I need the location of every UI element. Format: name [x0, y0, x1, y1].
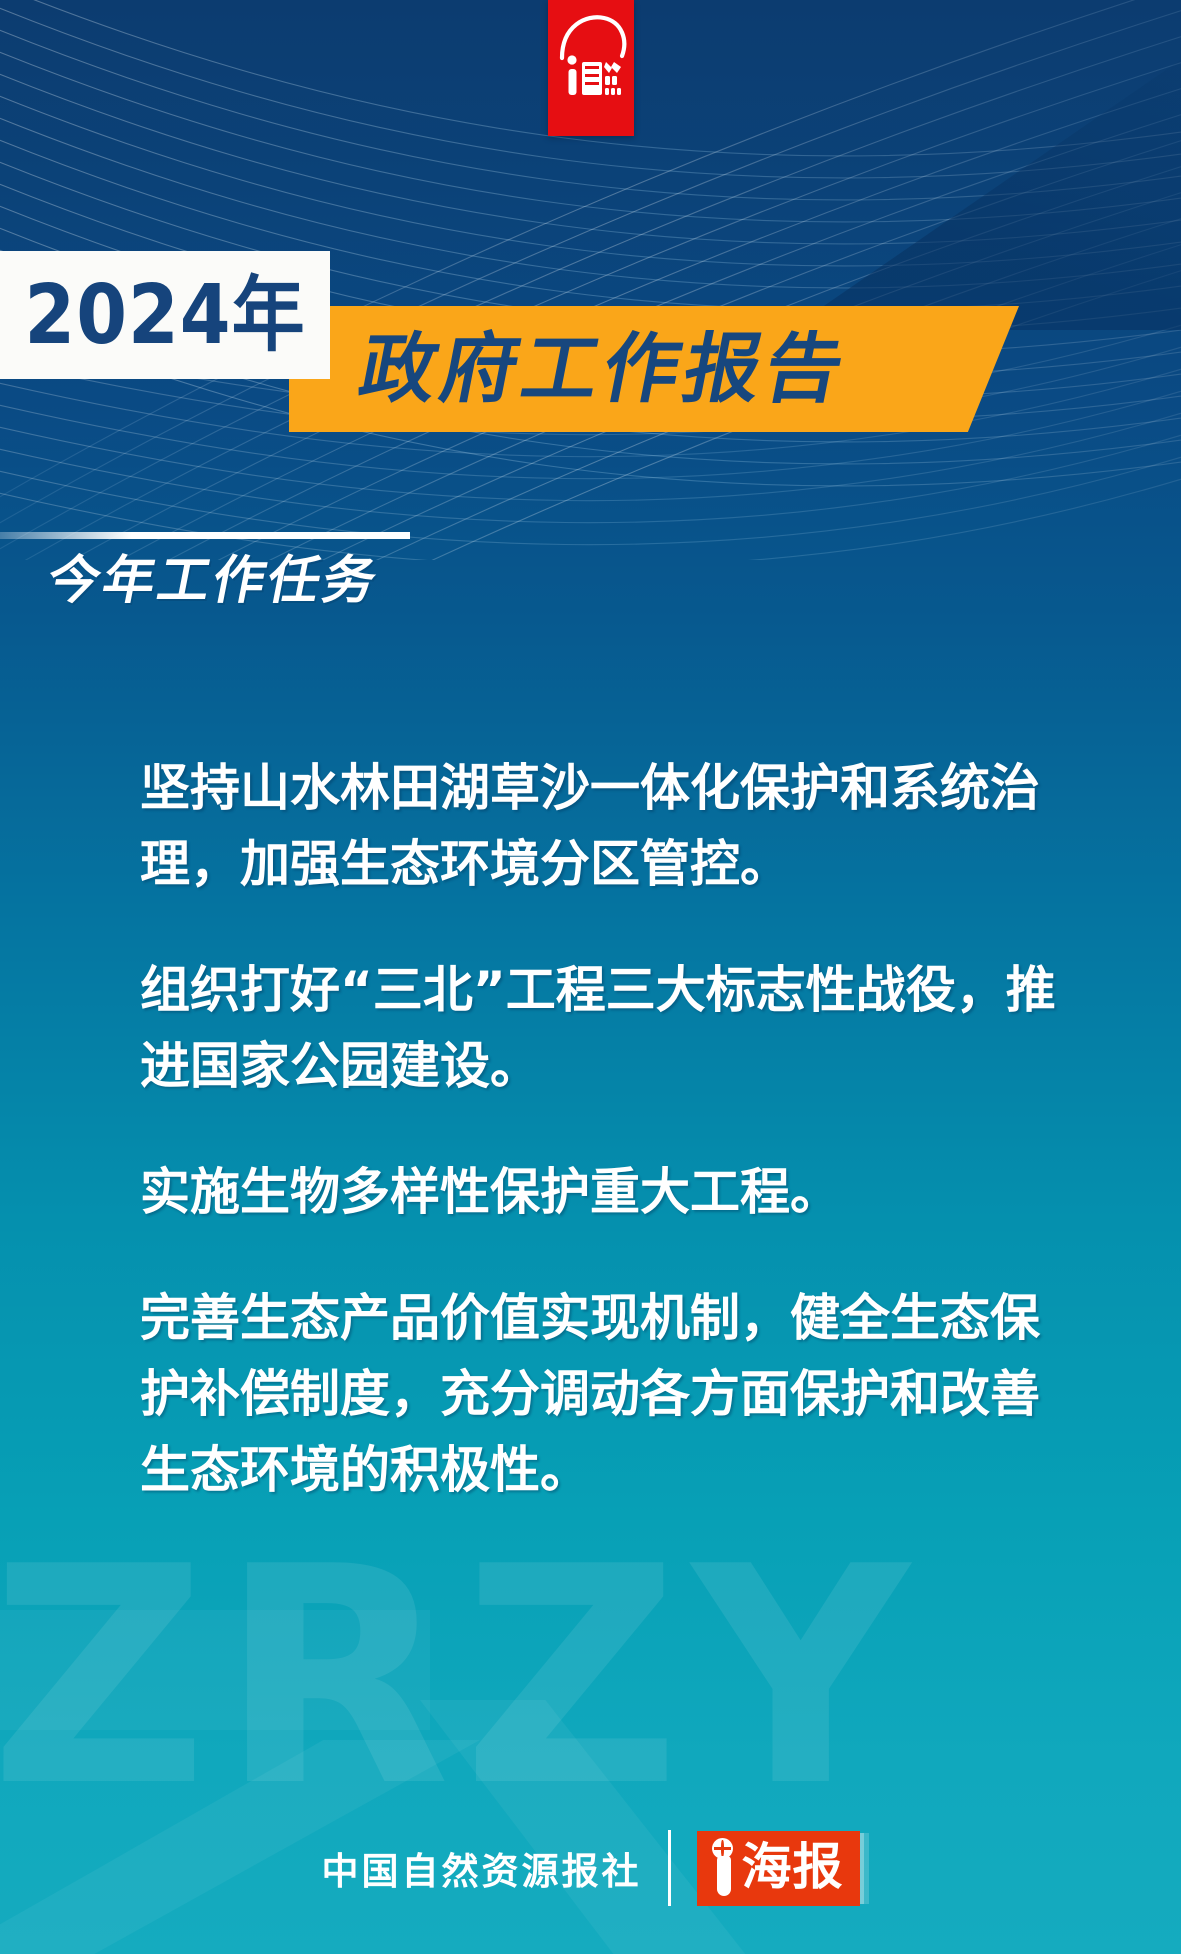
report-title-banner: 政府工作报告 — [289, 306, 1019, 432]
year-label: 2024年 — [24, 274, 305, 356]
iposter-logo-text: 海报 — [742, 1842, 844, 1892]
report-title: 政府工作报告 — [354, 331, 855, 407]
task-paragraph: 完善生态产品价值实现机制，健全生态保护补偿制度，充分调动各方面保护和改善生态环境… — [140, 1280, 1060, 1508]
year-badge: 2024年 — [0, 251, 330, 379]
footer: 中国自然资源报社 海报 — [0, 1830, 1181, 1906]
publisher-name: 中国自然资源报社 — [322, 1841, 642, 1895]
sheen-band-1 — [0, 1610, 430, 1730]
section-heading: 今年工作任务 — [41, 548, 384, 616]
brand-logo-banner — [548, 0, 634, 136]
task-paragraph: 组织打好“三北”工程三大标志性战役，推进国家公园建设。 — [140, 952, 1060, 1104]
task-paragraph: 实施生物多样性保护重大工程。 — [140, 1154, 1060, 1230]
section-heading-rule — [0, 532, 410, 539]
task-paragraph: 坚持山水林田湖草沙一体化保护和系统治理，加强生态环境分区管控。 — [140, 750, 1060, 902]
corner-shadow-wedge — [621, 0, 1181, 330]
poster-root: 2024年 政府工作报告 今年工作任务 ZRZY 坚持山水林田湖草沙一体化保护和… — [0, 0, 1181, 1954]
globe-i-icon — [711, 1838, 737, 1896]
iposter-logo: 海报 — [697, 1831, 860, 1906]
footer-divider — [668, 1830, 671, 1906]
izran-logo-icon — [548, 0, 634, 136]
task-list: 坚持山水林田湖草沙一体化保护和系统治理，加强生态环境分区管控。 组织打好“三北”… — [140, 700, 1060, 1508]
